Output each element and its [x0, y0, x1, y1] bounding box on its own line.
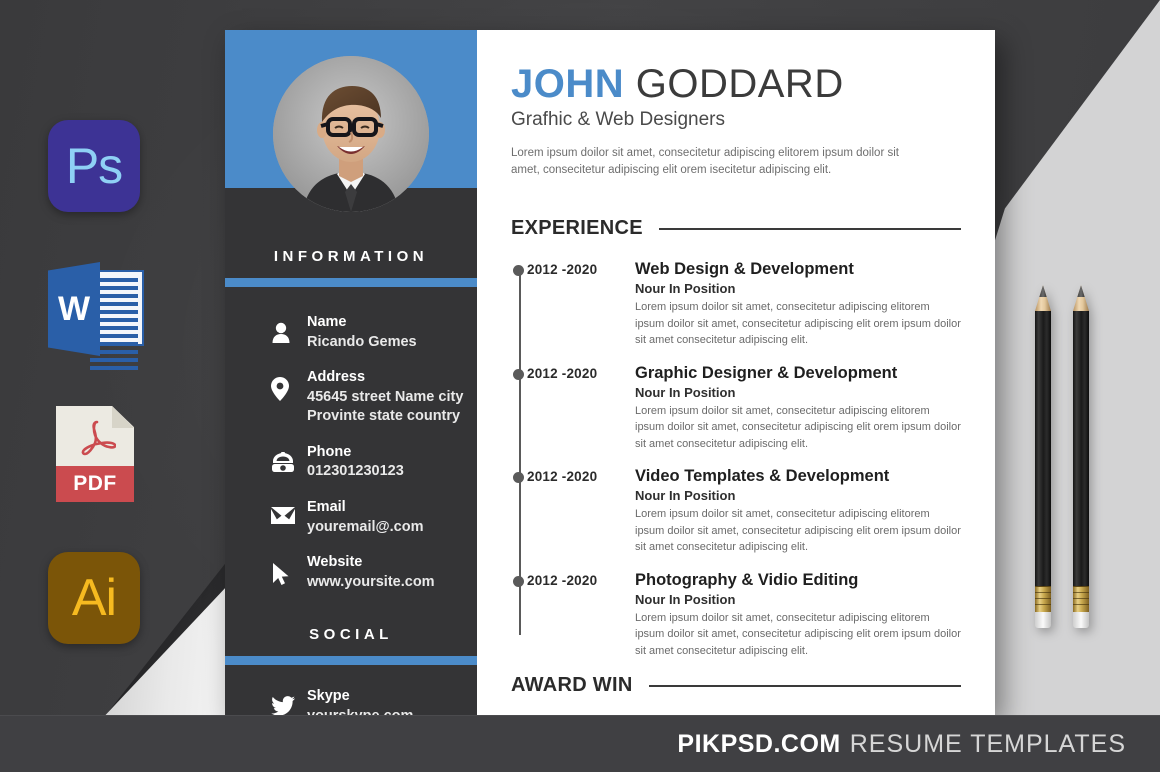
timeline-dot-icon	[513, 369, 524, 380]
sidebar-information-divider	[225, 278, 477, 287]
info-label-phone: Phone	[307, 443, 404, 463]
cursor-icon	[271, 553, 303, 586]
award-header-rule	[649, 685, 961, 687]
footer-banner: PIKPSD.COM RESUME TEMPLATES	[0, 715, 1160, 772]
experience-years: 2012 -2020	[527, 260, 635, 348]
experience-item: 2012 -2020 Graphic Designer & Developmen…	[527, 364, 961, 452]
experience-item: 2012 -2020 Video Templates & Development…	[527, 467, 961, 555]
photoshop-icon[interactable]: Ps	[48, 120, 142, 214]
info-value-phone: 012301230123	[307, 462, 404, 482]
info-label-email: Email	[307, 498, 423, 518]
file-format-icon-rail: Ps W PDF Ai	[48, 120, 148, 646]
experience-position: Nour In Position	[635, 385, 961, 400]
word-icon[interactable]: W	[48, 262, 148, 356]
experience-position: Nour In Position	[635, 281, 961, 296]
social-list: Skype yourskype.com	[225, 665, 477, 716]
pencil-left	[1035, 285, 1051, 628]
word-icon-label: W	[58, 292, 90, 326]
info-value-email: youremail@.com	[307, 518, 423, 538]
phone-icon	[271, 443, 303, 474]
experience-years: 2012 -2020	[527, 467, 635, 555]
sidebar-information-title: INFORMATION	[225, 248, 477, 265]
experience-header-rule	[659, 228, 961, 230]
experience-item: 2012 -2020 Web Design & Development Nour…	[527, 260, 961, 348]
sidebar-social-divider	[225, 656, 477, 665]
information-list: Name Ricando Gemes Address 45645 street …	[225, 287, 477, 608]
experience-section-title: EXPERIENCE	[511, 217, 643, 240]
experience-years: 2012 -2020	[527, 571, 635, 659]
location-pin-icon	[271, 368, 303, 401]
job-role: Grafhic & Web Designers	[511, 109, 961, 131]
envelope-icon	[271, 498, 303, 524]
info-label-website: Website	[307, 553, 435, 573]
experience-description: Lorem ipsum doilor sit amet, consecitetu…	[635, 403, 961, 453]
info-value-name: Ricando Gemes	[307, 333, 417, 353]
sidebar-social-title: SOCIAL	[225, 626, 477, 643]
timeline-dot-icon	[513, 472, 524, 483]
resume-main: JOHN GODDARD Grafhic & Web Designers Lor…	[477, 30, 995, 716]
experience-description: Lorem ipsum doilor sit amet, consecitetu…	[635, 506, 961, 556]
experience-item: 2012 -2020 Photography & Vidio Editing N…	[527, 571, 961, 659]
info-row-address: Address 45645 street Name city Provinte …	[225, 368, 477, 443]
footer-brand: PIKPSD.COM	[677, 730, 840, 759]
footer-suffix: RESUME TEMPLATES	[850, 730, 1126, 759]
pdf-icon[interactable]: PDF	[48, 404, 142, 504]
pencil-right	[1073, 285, 1089, 628]
info-row-website: Website www.yoursite.com	[225, 553, 477, 608]
timeline-dot-icon	[513, 576, 524, 587]
photoshop-icon-label: Ps	[66, 141, 122, 191]
experience-title: Graphic Designer & Development	[635, 364, 961, 383]
info-label-address: Address	[307, 368, 477, 388]
resume-card: INFORMATION Name Ricando Gemes	[225, 30, 995, 716]
last-name: GODDARD	[624, 62, 844, 106]
experience-description: Lorem ipsum doilor sit amet, consecitetu…	[635, 299, 961, 349]
experience-timeline: 2012 -2020 Web Design & Development Nour…	[511, 260, 961, 659]
experience-title: Web Design & Development	[635, 260, 961, 279]
award-section-title: AWARD WIN	[511, 674, 633, 697]
experience-description: Lorem ipsum doilor sit amet, consecitetu…	[635, 610, 961, 660]
info-value-website: www.yoursite.com	[307, 573, 435, 593]
social-row-skype: Skype yourskype.com	[225, 687, 477, 716]
illustrator-icon-label: Ai	[72, 572, 116, 624]
info-row-name: Name Ricando Gemes	[225, 313, 477, 368]
experience-years: 2012 -2020	[527, 364, 635, 452]
profile-photo	[273, 56, 429, 212]
profile-photo-illustration	[273, 56, 429, 212]
person-icon	[271, 313, 303, 344]
social-label-skype: Skype	[307, 687, 413, 707]
info-value-address: 45645 street Name city Provinte state co…	[307, 388, 477, 427]
info-row-phone: Phone 012301230123	[225, 443, 477, 498]
timeline-dot-icon	[513, 265, 524, 276]
pdf-icon-label: PDF	[73, 472, 117, 496]
experience-position: Nour In Position	[635, 488, 961, 503]
experience-title: Photography & Vidio Editing	[635, 571, 961, 590]
experience-title: Video Templates & Development	[635, 467, 961, 486]
experience-position: Nour In Position	[635, 592, 961, 607]
resume-sidebar: INFORMATION Name Ricando Gemes	[225, 30, 477, 716]
page-title: JOHN GODDARD	[511, 64, 961, 105]
twitter-icon	[271, 687, 303, 716]
illustrator-icon[interactable]: Ai	[48, 552, 142, 646]
first-name: JOHN	[511, 62, 624, 106]
experience-section-header: EXPERIENCE	[511, 217, 961, 240]
intro-paragraph: Lorem ipsum doilor sit amet, consecitetu…	[511, 145, 911, 180]
info-label-name: Name	[307, 313, 417, 333]
pencils-decoration	[1035, 285, 1089, 628]
award-section-header: AWARD WIN	[511, 674, 961, 697]
acrobat-glyph-icon	[78, 418, 116, 462]
info-row-email: Email youremail@.com	[225, 498, 477, 553]
